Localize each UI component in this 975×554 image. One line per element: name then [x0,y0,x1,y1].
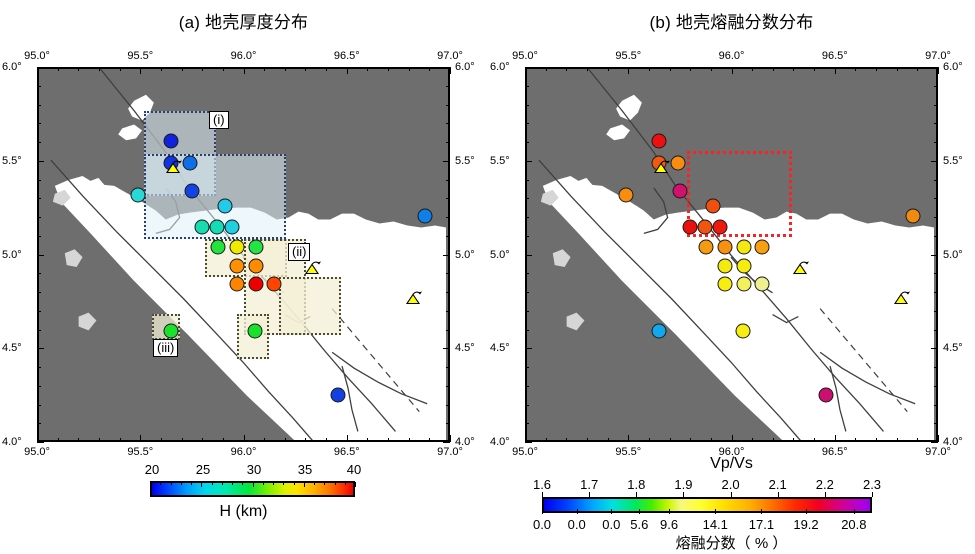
axis-tick [931,67,938,68]
station-marker[interactable] [249,258,264,273]
axis-tick [793,438,794,442]
axis-tick [897,67,898,71]
axis-tick [814,438,815,442]
volcano-icon [404,290,426,313]
axis-tick [835,435,836,442]
axis-tick [793,67,794,71]
colorbar-a-title: H (km) [0,503,487,521]
axis-tick [934,105,938,106]
colorbar-b-tickmark [778,492,779,497]
colorbar-a-tick-4: 40 [347,462,361,477]
station-marker[interactable] [718,276,733,291]
axis-tick [525,161,532,162]
axis-y-label: 4.5° [490,342,510,354]
axis-y-label: 6.0° [490,61,510,73]
axis-tick [934,142,938,143]
axis-tick [99,438,100,442]
axis-tick [897,438,898,442]
axis-tick [446,142,450,143]
axis-tick [525,67,532,68]
axis-tick [367,438,368,442]
colorbar-a-tick-3: 35 [298,462,312,477]
axis-tick [37,330,41,331]
volcano-icon [303,261,325,284]
station-marker[interactable] [230,258,245,273]
station-marker[interactable] [195,219,210,234]
axis-tick [37,123,41,124]
axis-tick [525,292,529,293]
station-marker[interactable] [131,187,146,202]
colorbar-b-tickmark [669,509,670,514]
map-a[interactable] [37,67,450,442]
region-box-ii-right [279,277,341,335]
axis-tick [525,311,529,312]
station-marker[interactable] [755,240,770,255]
colorbar-a-tick-1: 25 [196,462,210,477]
axis-x-label: 96.5° [334,446,360,458]
axis-tick [934,123,938,124]
axis-tick [938,67,939,74]
colorbar-b-tick-bottom: 20.8 [841,517,866,532]
colorbar-b-tick-bottom: 19.2 [793,517,818,532]
colorbar-a-tickmark [294,482,295,485]
colorbar-a-tickmark [171,482,172,485]
axis-tick [690,438,691,442]
colorbar-b-tick-bottom: 9.6 [660,517,678,532]
figure-root: (a) 地壳厚度分布 [0,0,975,554]
axis-x-label: 96.5° [822,50,848,62]
axis-y-label: 5.5° [455,155,475,167]
axis-tick [78,438,79,442]
colorbar-b-tickmark [761,509,762,514]
colorbar-a-tick-0: 20 [145,462,159,477]
axis-tick [525,405,529,406]
station-marker[interactable] [698,240,713,255]
axis-tick [202,438,203,442]
axis-tick [525,348,532,349]
colorbar-a-tickmark [324,482,325,485]
axis-tick [934,367,938,368]
axis-tick [120,67,121,71]
axis-tick [161,438,162,442]
axis-tick [37,67,44,68]
axis-tick [446,330,450,331]
axis-y-label: 5.5° [490,155,510,167]
axis-tick [732,435,733,442]
axis-y-label: 6.0° [943,61,963,73]
colorbar-a [150,481,355,497]
axis-x-label: 96.5° [822,446,848,458]
axis-y-label: 4.0° [2,436,22,448]
axis-tick [525,180,529,181]
axis-tick [285,438,286,442]
station-marker[interactable] [210,240,225,255]
colorbar-b-tick-bottom: 14.1 [703,517,728,532]
region-label-i: (i) [209,111,229,129]
axis-tick [525,217,529,218]
axis-tick [773,67,774,71]
station-marker[interactable] [735,323,750,338]
colorbar-a-tickmark [212,482,213,485]
axis-tick [835,67,836,74]
axis-tick [182,438,183,442]
station-marker[interactable] [217,199,232,214]
colorbar-b-tick-top: 1.7 [580,477,598,492]
region-label-ii: (ii) [288,243,310,261]
colorbar-b-tickmark [542,492,543,497]
station-marker[interactable] [718,240,733,255]
station-marker[interactable] [652,323,667,338]
axis-tick [525,198,529,199]
axis-y-label: 6.0° [455,61,475,73]
colorbar-a-tickmark [314,482,315,485]
axis-tick [931,442,938,443]
axis-tick [525,236,529,237]
axis-tick [37,273,41,274]
colorbar-a-tickmark [232,482,233,485]
axis-tick [429,67,430,71]
axis-tick [37,405,41,406]
colorbar-a-tickmark [222,482,223,485]
axis-tick [409,67,410,71]
colorbar-b-tickmark [731,492,732,497]
colorbar-b-tick-bottom: 0.0 [602,517,620,532]
axis-tick [566,438,567,442]
axis-tick [37,255,44,256]
axis-x-label: 95.0° [24,50,50,62]
colorbar-b-tickmark [639,509,640,514]
axis-tick [347,435,348,442]
axis-x-label: 96.5° [334,50,360,62]
axis-y-label: 5.5° [943,155,963,167]
station-marker[interactable] [755,276,770,291]
axis-tick [446,123,450,124]
axis-tick [525,123,529,124]
station-marker[interactable] [683,219,698,234]
station-marker[interactable] [737,276,752,291]
axis-y-label: 5.5° [2,155,22,167]
axis-tick [934,273,938,274]
axis-tick [223,438,224,442]
region-label-iii: (iii) [153,339,178,357]
axis-tick [37,180,41,181]
axis-tick [446,273,450,274]
axis-tick [934,405,938,406]
axis-tick [446,105,450,106]
axis-tick [450,67,451,74]
colorbar-b-tick-top: 1.9 [674,477,692,492]
axis-tick [546,438,547,442]
axis-tick [244,435,245,442]
colorbar-b-tickmark [636,492,637,497]
colorbar-b-tick-top: 2.2 [816,477,834,492]
axis-tick [161,67,162,71]
axis-tick [931,161,938,162]
axis-tick [285,67,286,71]
axis-tick [690,67,691,71]
station-marker[interactable] [209,219,224,234]
colorbar-b-tickmark [854,509,855,514]
station-marker[interactable] [249,240,264,255]
axis-x-label: 96.0° [231,50,257,62]
axis-tick [446,423,450,424]
axis-tick [934,198,938,199]
colorbar-a-tickmark [150,482,151,487]
station-marker[interactable] [819,388,834,403]
axis-tick [587,438,588,442]
axis-tick [934,330,938,331]
colorbar-a-tickmark [355,482,356,487]
axis-tick [525,255,532,256]
station-marker[interactable] [697,219,712,234]
station-marker[interactable] [652,133,667,148]
axis-tick [446,386,450,387]
colorbar-b-tick-bottom: 17.1 [749,517,774,532]
axis-tick [223,67,224,71]
axis-x-label: 95.0° [512,50,538,62]
axis-y-label: 5.0° [455,249,475,261]
axis-tick [525,386,529,387]
axis-tick [37,67,38,74]
axis-tick [326,67,327,71]
panel-b: (b) 地壳熔融分数分布 [488,0,975,554]
axis-tick [855,438,856,442]
station-marker[interactable] [331,388,346,403]
colorbar-b-tickmark [872,492,873,497]
colorbar-b-tick-top: 2.3 [863,477,881,492]
station-marker[interactable] [164,323,179,338]
axis-tick [446,236,450,237]
station-marker[interactable] [418,209,433,224]
axis-tick [429,438,430,442]
axis-tick [934,86,938,87]
colorbar-b-tickmark [715,509,716,514]
axis-tick [732,67,733,74]
axis-tick [711,438,712,442]
colorbar-b-tickmark [577,509,578,514]
colorbar-a-tickmark [201,482,202,487]
colorbar-b-tickmark [683,492,684,497]
axis-tick [934,311,938,312]
axis-x-label: 95.5° [127,446,153,458]
station-marker[interactable] [249,276,264,291]
colorbar-a-tick-2: 30 [247,462,261,477]
axis-tick [934,292,938,293]
axis-tick [670,67,671,71]
panel-b-title: (b) 地壳熔融分数分布 [488,8,975,33]
axis-x-label: 95.5° [127,50,153,62]
axis-tick [202,67,203,71]
axis-tick [446,217,450,218]
axis-tick [264,438,265,442]
station-marker[interactable] [184,184,199,199]
axis-tick [443,348,450,349]
axis-tick [120,438,121,442]
axis-y-label: 4.0° [490,436,510,448]
axis-tick [525,105,529,106]
axis-y-label: 4.5° [455,342,475,354]
axis-tick [37,86,41,87]
colorbar-a-tickmark [160,482,161,485]
station-marker[interactable] [164,133,179,148]
colorbar-b-tick-bottom: 0.0 [533,517,551,532]
axis-tick [446,367,450,368]
axis-tick [855,67,856,71]
colorbar-a-tickmark [304,482,305,487]
axis-tick [182,67,183,71]
station-marker[interactable] [619,187,634,202]
colorbar-b-tick-top: 2.1 [769,477,787,492]
axis-tick [934,423,938,424]
colorbar-b-tickmark [589,492,590,497]
axis-y-label: 4.5° [2,342,22,354]
colorbar-b-tickmark [611,509,612,514]
axis-tick [525,273,529,274]
axis-tick [649,438,650,442]
axis-tick [37,367,41,368]
station-marker[interactable] [737,240,752,255]
station-marker[interactable] [225,219,240,234]
station-marker[interactable] [267,276,282,291]
axis-tick [917,67,918,71]
colorbar-a-tickmark [191,482,192,485]
axis-tick [347,67,348,74]
axis-tick [934,217,938,218]
station-marker[interactable] [737,258,752,273]
axis-tick [264,67,265,71]
station-marker[interactable] [713,219,728,234]
axis-y-label: 4.0° [943,436,963,448]
axis-x-label: 96.0° [719,50,745,62]
axis-tick [525,142,529,143]
axis-tick [608,438,609,442]
colorbar-a-tickmark [263,482,264,485]
axis-tick [752,438,753,442]
axis-tick [446,86,450,87]
colorbar-a-tickmark [335,482,336,485]
colorbar-a-tickmark [273,482,274,485]
axis-tick [37,423,41,424]
station-marker[interactable] [230,276,245,291]
axis-tick [525,67,526,74]
axis-tick [546,67,547,71]
volcano-icon [892,290,914,313]
axis-tick [934,236,938,237]
axis-tick [934,180,938,181]
axis-tick [876,67,877,71]
axis-tick [37,142,41,143]
axis-tick [37,435,38,442]
axis-tick [876,438,877,442]
axis-tick [140,67,141,74]
axis-tick [37,236,41,237]
axis-tick [917,438,918,442]
axis-tick [934,386,938,387]
axis-y-label: 4.5° [943,342,963,354]
colorbar-b-tick-bottom: 5.6 [630,517,648,532]
axis-tick [931,255,938,256]
station-marker[interactable] [230,240,245,255]
panel-a: (a) 地壳厚度分布 [0,0,487,554]
axis-x-label: 96.0° [231,446,257,458]
axis-tick [525,330,529,331]
axis-tick [58,438,59,442]
axis-y-label: 5.0° [943,249,963,261]
axis-y-label: 4.0° [455,436,475,448]
axis-tick [931,348,938,349]
axis-tick [450,435,451,442]
axis-x-label: 95.0° [24,446,50,458]
axis-x-label: 95.5° [615,50,641,62]
axis-tick [37,198,41,199]
axis-tick [99,67,100,71]
axis-tick [711,67,712,71]
axis-tick [446,311,450,312]
colorbar-b-tick-bottom: 0.0 [568,517,586,532]
colorbar-b-tickmark [542,509,543,514]
colorbar-a-tickmark [345,482,346,485]
axis-tick [525,442,532,443]
axis-tick [608,67,609,71]
axis-tick [525,86,529,87]
station-marker[interactable] [705,199,720,214]
axis-tick [773,438,774,442]
axis-tick [446,405,450,406]
axis-tick [443,67,450,68]
station-marker[interactable] [718,258,733,273]
axis-x-label: 96.0° [719,446,745,458]
panel-a-title: (a) 地壳厚度分布 [0,8,487,33]
axis-tick [938,435,939,442]
axis-tick [443,255,450,256]
station-marker[interactable] [672,184,687,199]
axis-tick [305,67,306,71]
map-b[interactable] [525,67,938,442]
axis-tick [388,438,389,442]
axis-tick [37,442,44,443]
axis-tick [37,292,41,293]
axis-tick [525,367,529,368]
axis-tick [388,67,389,71]
colorbar-a-tickmark [253,482,254,487]
axis-y-label: 6.0° [2,61,22,73]
axis-tick [37,161,44,162]
axis-tick [37,348,44,349]
axis-tick [752,67,753,71]
axis-tick [78,67,79,71]
axis-x-label: 95.5° [615,446,641,458]
basemap-b [527,69,936,440]
axis-tick [443,161,450,162]
colorbar-a-tickmark [242,482,243,485]
axis-tick [37,105,41,106]
axis-x-label: 95.0° [512,446,538,458]
axis-tick [244,67,245,74]
station-marker[interactable] [247,323,262,338]
axis-tick [628,435,629,442]
axis-tick [587,67,588,71]
axis-tick [649,67,650,71]
axis-tick [446,180,450,181]
axis-tick [37,386,41,387]
station-marker[interactable] [906,209,921,224]
axis-tick [140,435,141,442]
axis-tick [37,311,41,312]
volcano-icon [791,261,813,284]
colorbar-a-tickmark [181,482,182,485]
axis-tick [446,198,450,199]
colorbar-b-tickmark [806,509,807,514]
